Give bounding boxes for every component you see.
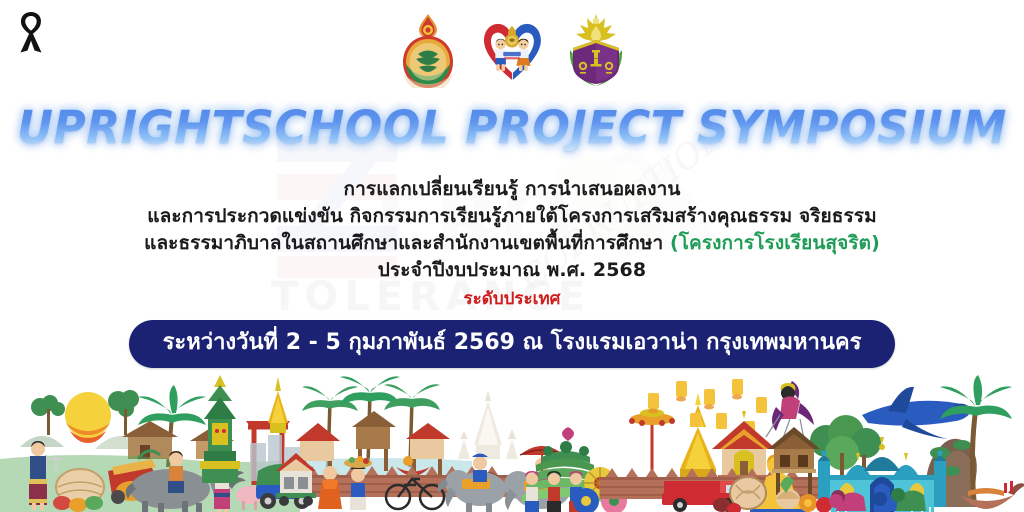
subtitle-line-4: ประจำปีงบประมาณ พ.ศ. 2568: [0, 257, 1024, 284]
title-wrap: UPRIGHTSCHOOL PROJECT SYMPOSIUM: [0, 104, 1024, 151]
event-level-label: ระดับประเทศ: [0, 288, 1024, 310]
subtitle-line-2: และการประกวดแข่งขัน กิจกรรมการเรียนรู้ภา…: [0, 203, 1024, 230]
obec-emblem-icon: [393, 12, 463, 90]
poster-canvas: TOLERANCE ERO CORRUPTION: [0, 0, 1024, 512]
project-name-highlight: (โครงการโรงเรียนสุจริต): [670, 232, 880, 254]
thai-landmark-illustration-band: [0, 367, 1024, 512]
date-banner-wrap: ระหว่างวันที่ 2 - 5 กุมภาพันธ์ 2569 ณ โร…: [0, 320, 1024, 368]
upright-school-heart-icon: [477, 12, 547, 90]
date-venue-banner: ระหว่างวันที่ 2 - 5 กุมภาพันธ์ 2569 ณ โร…: [129, 320, 896, 368]
page-title: UPRIGHTSCHOOL PROJECT SYMPOSIUM: [17, 104, 1007, 151]
logo-row: [0, 12, 1024, 92]
subtitle-line-1: การแลกเปลี่ยนเรียนรู้ การนำเสนอผลงาน: [0, 176, 1024, 203]
nacc-emblem-icon: [561, 12, 631, 90]
subtitle-line-3: และธรรมาภิบาลในสถานศึกษาและสำนักงานเขตพื…: [0, 230, 1024, 257]
subtitle-line-3-main: และธรรมาภิบาลในสถานศึกษาและสำนักงานเขตพื…: [144, 232, 670, 254]
subtitle-block: การแลกเปลี่ยนเรียนรู้ การนำเสนอผลงาน และ…: [0, 176, 1024, 310]
